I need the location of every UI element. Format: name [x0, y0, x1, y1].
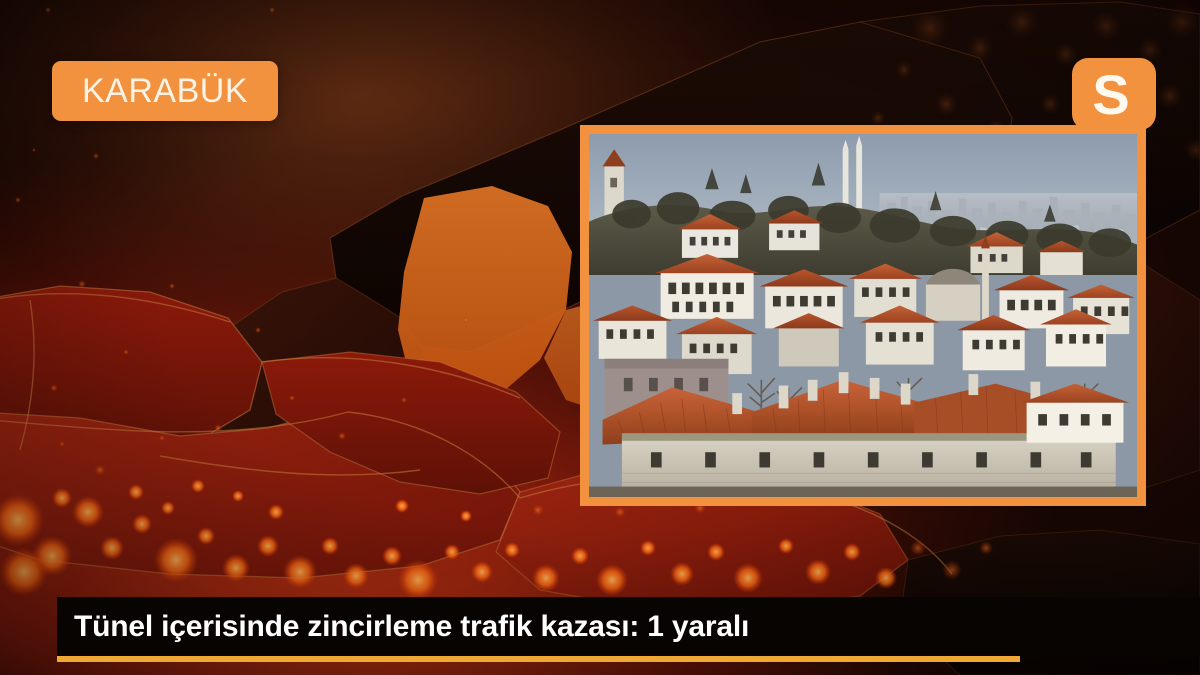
photo-image — [589, 134, 1137, 497]
location-badge: KARABÜK — [52, 61, 278, 121]
caption-underline-rule — [57, 656, 1020, 662]
caption-headline: Tünel içerisinde zincirleme trafik kazas… — [57, 612, 749, 642]
brand-logo-letter: S — [1092, 67, 1129, 123]
photo-frame — [580, 125, 1146, 506]
news-card: KARABÜK S — [0, 0, 1200, 675]
location-badge-label: KARABÜK — [82, 74, 248, 108]
safranbolu-townscape-illustration — [589, 134, 1137, 497]
caption-bar: Tünel içerisinde zincirleme trafik kazas… — [57, 597, 1200, 657]
brand-logo[interactable]: S — [1072, 58, 1156, 130]
